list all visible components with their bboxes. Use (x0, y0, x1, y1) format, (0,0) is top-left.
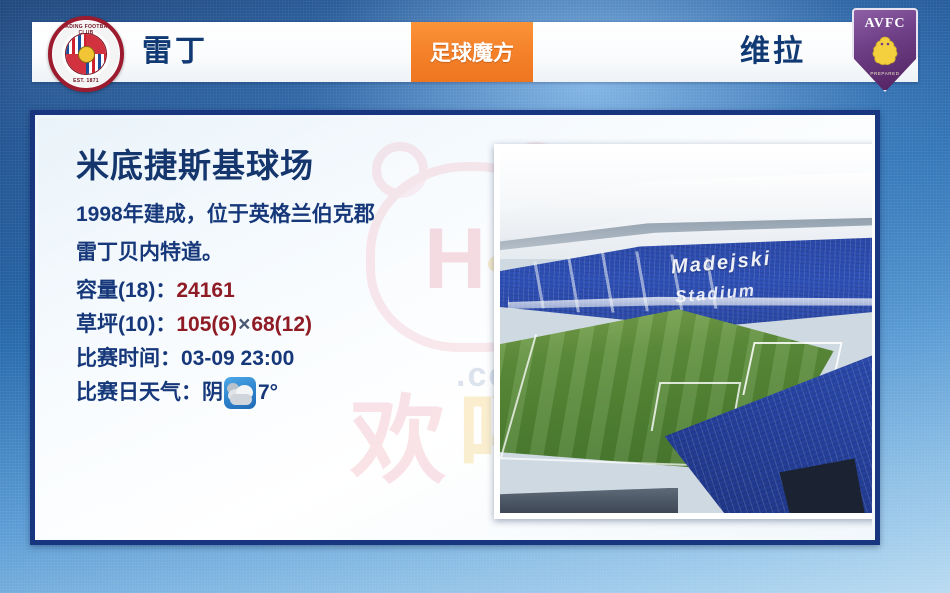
content-panel-inner: H a .com 欢 呼 米底捷斯基球场 1998年建成，位于英格兰伯克郡 雷丁… (38, 118, 872, 537)
pitch-label: 草坪(10)： (76, 313, 176, 336)
weather-label: 比赛日天气： (76, 376, 202, 410)
home-team-name: 雷丁 (142, 22, 208, 82)
crest-arc-bottom-text: EST. 1871 (52, 78, 120, 84)
weather-temperature: 7° (258, 376, 278, 410)
pitch-row: 草坪(10)：105(6)×68(12) (76, 308, 486, 342)
villa-initials: AVFC (852, 16, 918, 32)
crest-arc-top-text: READING FOOTBALL CLUB (52, 24, 120, 36)
match-time-value: 03-09 23:00 (181, 347, 294, 370)
pitch-times-symbol: × (237, 313, 251, 336)
stadium-title: 米底捷斯基球场 (76, 148, 486, 184)
pitch-length-value: 105(6) (176, 313, 237, 336)
content-panel: H a .com 欢 呼 米底捷斯基球场 1998年建成，位于英格兰伯克郡 雷丁… (30, 110, 880, 545)
pitch-width-value: 68(12) (251, 313, 312, 336)
villa-lion-icon (870, 35, 900, 67)
madejski-stadium-photo: Madejski Stadium (500, 150, 872, 513)
match-time-row: 比赛时间：03-09 23:00 (76, 342, 486, 376)
weather-condition: 阴 (202, 376, 223, 410)
villa-motto: PREPARED (852, 71, 918, 76)
weather-row: 比赛日天气： 阴 7° (76, 376, 486, 410)
stadium-description-line-1: 1998年建成，位于英格兰伯克郡 (76, 198, 486, 232)
reading-fc-crest-icon: READING FOOTBALL CLUB EST. 1871 (48, 16, 124, 92)
brand-label: 足球魔方 (430, 37, 514, 67)
cloudy-icon (224, 377, 256, 409)
match-time-label: 比赛时间： (76, 347, 181, 370)
stadium-description-line-2: 雷丁贝内特道。 (76, 236, 486, 270)
capacity-row: 容量(18)：24161 (76, 274, 486, 308)
cloud-base (230, 394, 252, 405)
capacity-value: 24161 (176, 279, 234, 302)
stadium-photo-frame: Madejski Stadium (494, 144, 872, 519)
match-stadium-card: 雷丁 维拉 READING FOOTBALL CLUB EST. 1871 足球… (0, 0, 950, 593)
brand-badge[interactable]: 足球魔方 (411, 22, 533, 82)
capacity-label: 容量(18)： (76, 279, 176, 302)
photo-foreground-strip (500, 488, 678, 513)
crest-ball-icon (78, 46, 95, 63)
stadium-info-block: 米底捷斯基球场 1998年建成，位于英格兰伯克郡 雷丁贝内特道。 容量(18)：… (76, 148, 486, 410)
aston-villa-crest-icon: AVFC PREPARED (852, 8, 918, 92)
away-team-name: 维拉 (740, 22, 806, 82)
